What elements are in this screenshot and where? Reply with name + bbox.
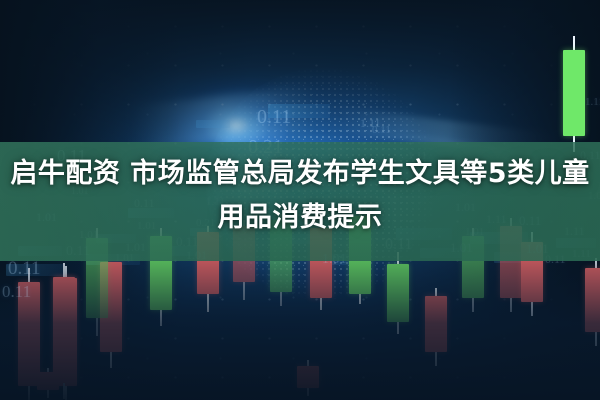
page-title: 启牛配资 市场监管总局发布学生文具等5类儿童 用品消费提示 (0, 152, 600, 240)
floating-number: 1.11 (585, 96, 600, 108)
news-banner: 0.110.110.111.011.010.111.010.111.011.01… (0, 0, 600, 400)
floating-number: 0.11 (257, 106, 291, 129)
headline-line-1: 启牛配资 市场监管总局发布学生文具等5类儿童 (0, 152, 600, 196)
floating-number: 0.11 (2, 282, 31, 302)
floating-number: 0.11 (8, 258, 41, 280)
floating-number: 0.11 (372, 124, 391, 136)
headline-line-2: 用品消费提示 (0, 196, 600, 240)
